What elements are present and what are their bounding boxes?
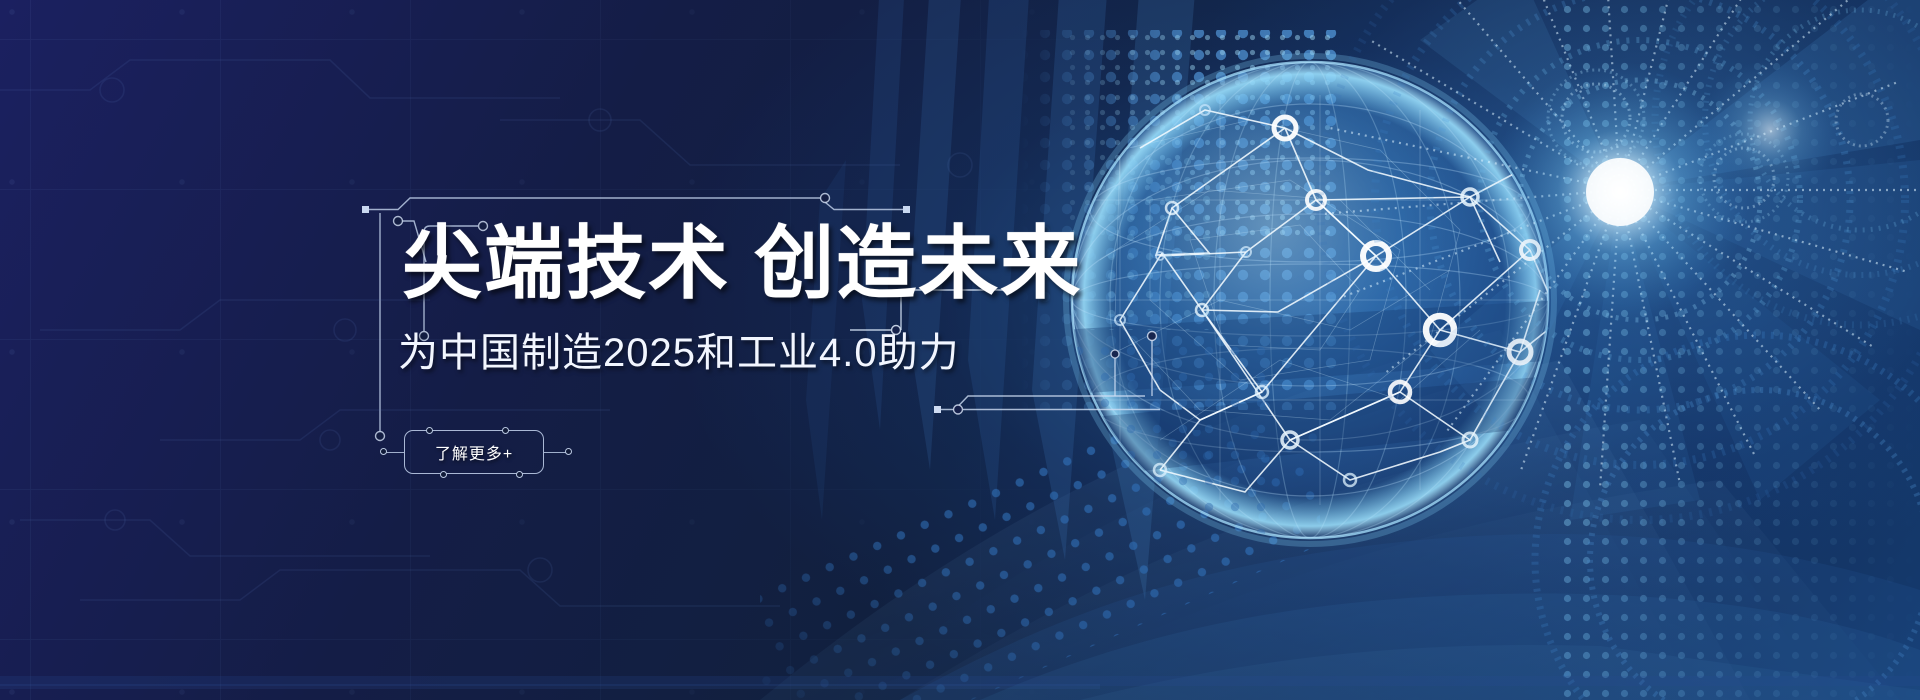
learn-more-button[interactable]: 了解更多+: [404, 430, 544, 474]
cta-node-top-left: [426, 427, 433, 434]
cta-node-bottom-left: [440, 471, 447, 478]
cta-group: 了解更多+: [0, 0, 1920, 700]
cta-node-left: [380, 448, 387, 455]
hero-banner: 尖端技术 创造未来 为中国制造2025和工业4.0助力 了解更多+: [0, 0, 1920, 700]
cta-node-bottom-right: [516, 471, 523, 478]
cta-node-top-right: [502, 427, 509, 434]
banner-content: 尖端技术 创造未来 为中国制造2025和工业4.0助力 了解更多+: [0, 0, 1920, 700]
cta-node-right: [565, 448, 572, 455]
